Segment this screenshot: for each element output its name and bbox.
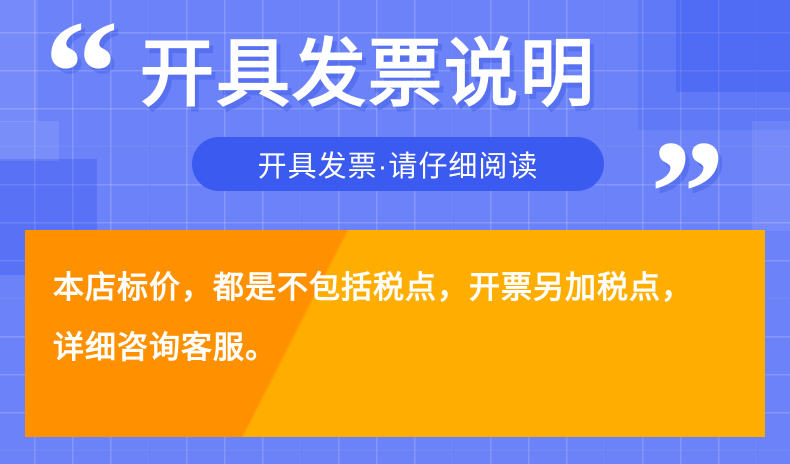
decor-block-right-edge bbox=[752, 121, 790, 231]
notice-text: 本店标价，都是不包括税点，开票另加税点， 详细咨询客服。 bbox=[53, 258, 745, 379]
page-title: 开具发票说明 bbox=[140, 24, 596, 124]
subtitle-pill: 开具发票·请仔细阅读 bbox=[192, 137, 604, 191]
notice-line-2: 详细咨询客服。 bbox=[53, 318, 745, 378]
decor-block-top-left bbox=[0, 0, 38, 122]
notice-line-1: 本店标价，都是不包括税点，开票另加税点， bbox=[53, 258, 745, 318]
opening-quote-icon: “ bbox=[44, 0, 117, 148]
decor-block-top-right-inner bbox=[676, 0, 790, 92]
notice-panel: 本店标价，都是不包括税点，开票另加税点， 详细咨询客服。 bbox=[25, 230, 765, 437]
subtitle-label: 开具发票·请仔细阅读 bbox=[258, 143, 539, 185]
invoice-notice-poster: “ 开具发票说明 开具发票·请仔细阅读 ” 本店标价，都是不包括税点，开票另加税… bbox=[0, 0, 790, 464]
